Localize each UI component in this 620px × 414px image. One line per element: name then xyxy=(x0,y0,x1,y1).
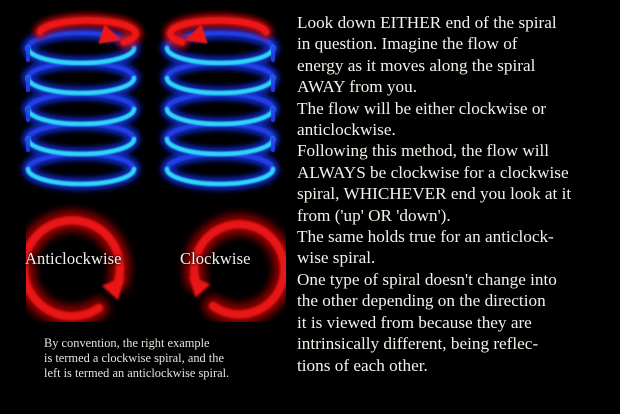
body-text-line: AWAY from you. xyxy=(297,76,615,97)
body-text-line: anticlockwise. xyxy=(297,119,615,140)
right-spiral-graphic xyxy=(150,4,300,204)
body-text-line: in question. Imagine the flow of xyxy=(297,33,615,54)
body-text-line: spiral, WHICHEVER end you look at it xyxy=(297,183,615,204)
figure-caption: By convention, the right example is term… xyxy=(44,336,294,382)
body-text-line: intrinsically different, being reflec- xyxy=(297,333,615,354)
left-helix-coils xyxy=(28,33,134,184)
body-text-line: Following this method, the flow will xyxy=(297,140,615,161)
body-text-line: The same holds true for an anticlock- xyxy=(297,226,615,247)
image-root: Anticlockwise Clockwise By convention, t… xyxy=(0,0,620,414)
clockwise-label: Clockwise xyxy=(180,251,251,268)
anticlockwise-label: Anticlockwise xyxy=(25,251,122,268)
body-text-line: wise spiral. xyxy=(297,247,615,268)
figure-area: Anticlockwise Clockwise By convention, t… xyxy=(0,0,292,414)
body-text-line: tions of each other. xyxy=(297,355,615,376)
right-helix-coils xyxy=(167,33,273,184)
body-text-line: ALWAYS be clockwise for a clockwise xyxy=(297,162,615,183)
caption-line: is termed a clockwise spiral, and the xyxy=(44,351,294,366)
caption-line: left is termed an anticlockwise spiral. xyxy=(44,366,294,381)
body-text-line: it is viewed from because they are xyxy=(297,312,615,333)
body-text-line: from ('up' OR 'down'). xyxy=(297,205,615,226)
body-text-line: the other depending on the direction xyxy=(297,290,615,311)
body-text-line: The flow will be either clockwise or xyxy=(297,98,615,119)
left-spiral-graphic xyxy=(6,4,156,204)
body-text-line: Look down EITHER end of the spiral xyxy=(297,12,615,33)
body-text-line: energy as it moves along the spiral xyxy=(297,55,615,76)
explanatory-text-block: Look down EITHER end of the spiral in qu… xyxy=(297,12,615,376)
caption-line: By convention, the right example xyxy=(44,336,294,351)
body-text-line: One type of spiral doesn't change into xyxy=(297,269,615,290)
